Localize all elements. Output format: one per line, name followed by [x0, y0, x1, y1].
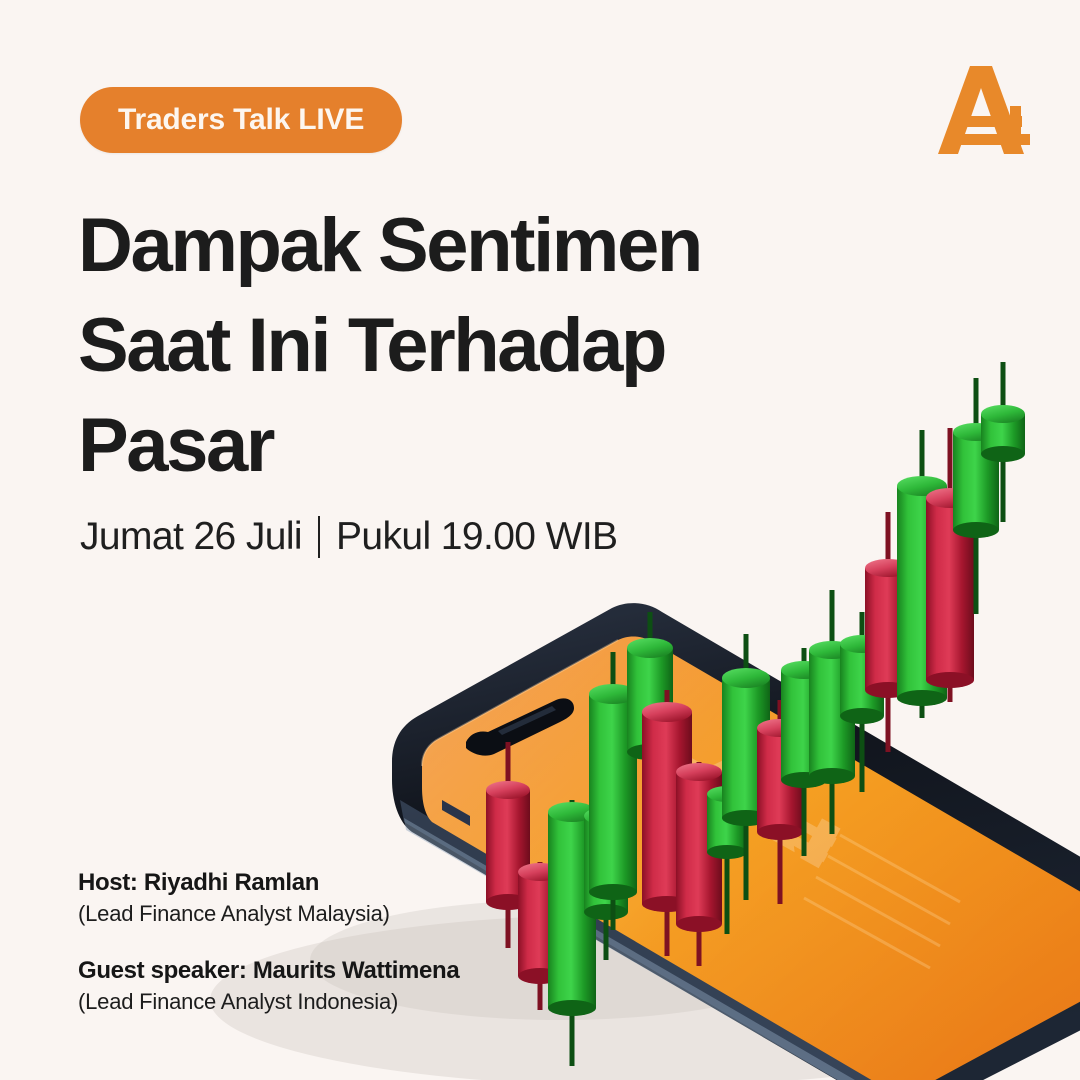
candle-bull: [584, 807, 628, 960]
headline-line-2: Saat Ini Terhadap: [78, 296, 798, 396]
candle-bull: [953, 378, 999, 614]
event-schedule: Jumat 26 Juli Pukul 19.00 WIB: [80, 515, 617, 559]
headline-line-3: Pasar: [78, 396, 798, 496]
candle-bull: [781, 648, 827, 856]
candle-bull: [809, 590, 855, 834]
live-badge-label: Traders Talk LIVE: [118, 103, 364, 137]
speakers-block: Host: Riyadhi Ramlan (Lead Finance Analy…: [78, 868, 558, 1018]
candle-bull: [589, 652, 637, 930]
guest-name: Guest speaker: Maurits Wattimena: [78, 956, 558, 986]
page-title: Dampak Sentimen Saat Ini Terhadap Pasar: [78, 196, 798, 496]
schedule-separator: [318, 516, 320, 558]
host-role: (Lead Finance Analyst Malaysia): [78, 898, 558, 930]
abc-a-logo-icon: [930, 58, 1032, 162]
guest-role: (Lead Finance Analyst Indonesia): [78, 986, 558, 1018]
event-date: Jumat 26 Juli: [80, 515, 302, 559]
candle-bull: [981, 362, 1025, 522]
candle-bull: [840, 612, 884, 792]
live-badge[interactable]: Traders Talk LIVE: [80, 87, 402, 153]
candle-bull: [897, 430, 947, 718]
candle-bear: [642, 690, 692, 956]
candle-bear: [757, 700, 803, 904]
promo-poster: Traders Talk LIVE Dampak Sentimen Saat I…: [0, 0, 1080, 1080]
abc-a-logo-watermark-icon: [656, 715, 855, 869]
event-time: Pukul 19.00 WIB: [336, 515, 617, 559]
candle-bull: [722, 634, 770, 900]
host-entry: Host: Riyadhi Ramlan (Lead Finance Analy…: [78, 868, 558, 930]
candle-bear: [926, 428, 974, 702]
candle-bear: [865, 512, 911, 752]
guest-entry: Guest speaker: Maurits Wattimena (Lead F…: [78, 956, 558, 1018]
candle-bull: [627, 612, 673, 792]
host-name: Host: Riyadhi Ramlan: [78, 868, 558, 898]
headline-line-1: Dampak Sentimen: [78, 196, 798, 296]
candle-bear: [676, 762, 722, 966]
candle-bull: [707, 768, 747, 934]
